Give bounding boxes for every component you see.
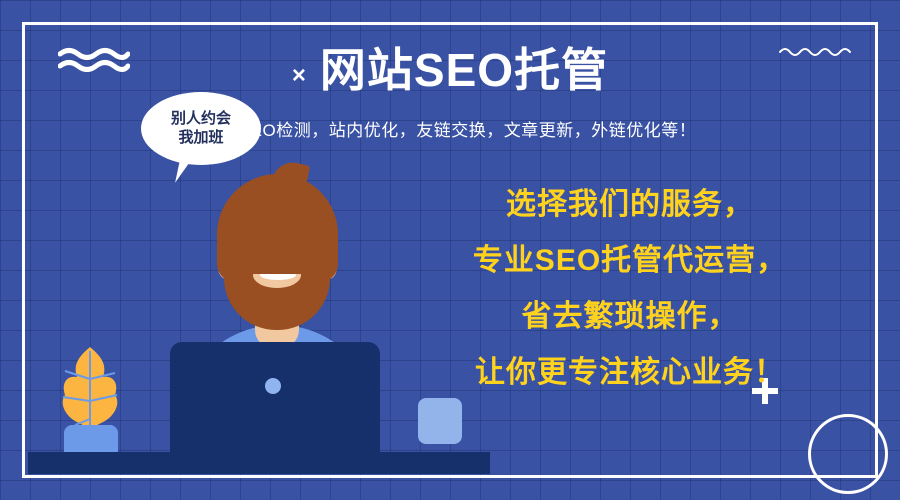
person-sideburn-left	[217, 230, 251, 282]
desk-surface	[28, 452, 490, 474]
slogan-line-1: 选择我们的服务，	[420, 190, 840, 220]
laptop-logo-icon	[265, 378, 281, 394]
plant-leaf-icon	[55, 345, 125, 433]
wave-top-right-icon	[778, 44, 856, 58]
laptop-screen	[170, 342, 380, 462]
slogan-line-3: 省去繁琐操作，	[420, 302, 840, 332]
speech-bubble: 别人约会 我加班	[141, 92, 261, 165]
plant-pot	[64, 425, 118, 455]
speech-bubble-line-2: 我加班	[178, 129, 223, 148]
page-subtitle: 含：SEO检测，站内优化，友链交换，文章更新，外链优化等！	[0, 116, 900, 141]
slogan-line-2: 专业SEO托管代运营，	[420, 246, 840, 276]
seo-hosting-banner: × 网站SEO托管 含：SEO检测，站内优化，友链交换，文章更新，外链优化等！ …	[0, 0, 900, 500]
person-sideburn-right	[302, 230, 338, 282]
speech-bubble-line-1: 别人约会	[171, 110, 231, 129]
wave-top-left-icon	[58, 46, 130, 72]
circle-outline-decoration	[808, 414, 888, 494]
slogan-block: 选择我们的服务， 专业SEO托管代运营， 省去繁琐操作， 让你更专注核心业务！	[420, 190, 840, 388]
slogan-line-4: 让你更专注核心业务！	[420, 358, 840, 388]
